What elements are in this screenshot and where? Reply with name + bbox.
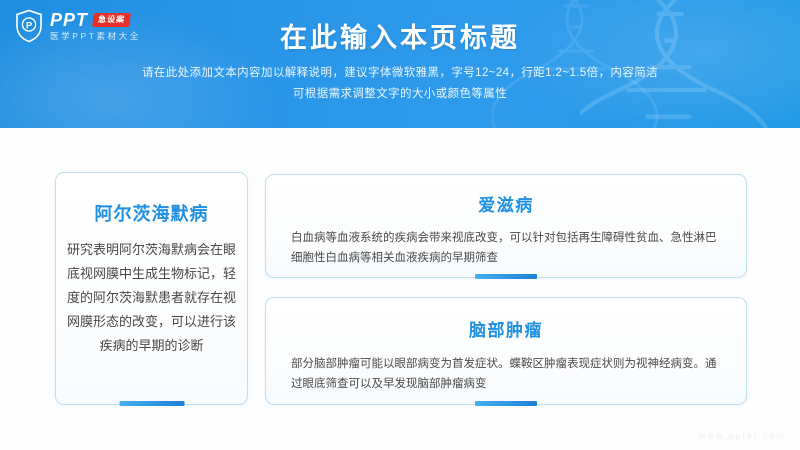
slide-header: P PPT 急设案 医学PPT素材大全 在此输入本页标题 请在此处添加文本内容加… xyxy=(0,0,800,128)
site-watermark: www.ppter.com xyxy=(699,431,786,441)
subtitle-line-2: 可根据需求调整文字的大小或颜色等属性 xyxy=(0,84,800,105)
card-aids-title: 爱滋病 xyxy=(266,191,746,216)
card-alzheimer-accent-bar xyxy=(119,401,184,406)
subtitle-line-1: 请在此处添加文本内容加以解释说明，建议字体微软雅黑，字号12~24，行距1.2~… xyxy=(0,63,800,84)
card-aids-accent-bar xyxy=(475,274,537,279)
card-brain-tumor-title: 脑部肿瘤 xyxy=(266,316,746,341)
card-aids-body: 白血病等血液系统的疾病会带来视底改变，可以针对包括再生障碍性贫血、急性淋巴细胞性… xyxy=(266,228,746,268)
card-alzheimer[interactable]: 阿尔茨海默病 研究表明阿尔茨海默病会在眼底视网膜中生成生物标记，轻度的阿尔茨海默… xyxy=(55,172,248,405)
page-subtitle: 请在此处添加文本内容加以解释说明，建议字体微软雅黑，字号12~24，行距1.2~… xyxy=(0,63,800,105)
page-title: 在此输入本页标题 xyxy=(0,16,800,55)
card-aids[interactable]: 爱滋病 白血病等血液系统的疾病会带来视底改变，可以针对包括再生障碍性贫血、急性淋… xyxy=(265,174,747,278)
card-alzheimer-title: 阿尔茨海默病 xyxy=(56,200,247,226)
card-brain-tumor[interactable]: 脑部肿瘤 部分脑部肿瘤可能以眼部病变为首发症状。蝶鞍区肿瘤表现症状则为视神经病变… xyxy=(265,297,747,405)
card-brain-tumor-body: 部分脑部肿瘤可能以眼部病变为首发症状。蝶鞍区肿瘤表现症状则为视神经病变。通过眼底… xyxy=(266,354,746,394)
slide-canvas: P PPT 急设案 医学PPT素材大全 在此输入本页标题 请在此处添加文本内容加… xyxy=(0,0,800,450)
card-brain-tumor-accent-bar xyxy=(475,401,537,406)
card-alzheimer-body: 研究表明阿尔茨海默病会在眼底视网膜中生成生物标记，轻度的阿尔茨海默患者就存在视网… xyxy=(56,238,247,358)
